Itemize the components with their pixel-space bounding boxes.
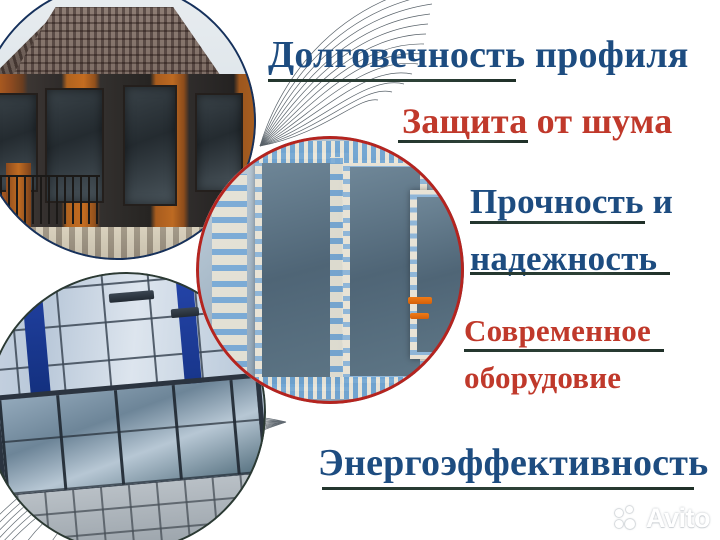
veka-orange-tie	[410, 313, 429, 319]
slogan-strength-underline	[470, 221, 645, 224]
house-window	[123, 85, 177, 206]
slogan-durability-underline	[268, 79, 516, 82]
slogan-modern: Современное	[464, 315, 651, 346]
veka-protective-film	[330, 157, 343, 377]
veka-protective-film	[212, 174, 247, 372]
slogan-reliability: надежность	[470, 241, 657, 276]
veka-windows-image	[196, 136, 464, 404]
house-railing	[0, 175, 100, 224]
slogan-strength: Прочность и	[470, 184, 673, 219]
slogan-durability: Долговечность профиля	[268, 36, 689, 74]
banner-canvas: Долговечность профиля Защита от шума Про…	[0, 0, 720, 540]
slogan-energy-underline	[322, 487, 694, 490]
photo-veka-windows	[196, 136, 464, 404]
veka-window-unit	[410, 190, 464, 359]
slogan-noise-underline	[398, 140, 528, 143]
avito-wordmark: Avito	[646, 503, 710, 534]
slogan-modern-underline	[464, 349, 664, 352]
avito-dots-icon	[615, 506, 641, 532]
slogan-reliability-underline	[470, 272, 670, 275]
avito-watermark: Avito	[615, 503, 710, 534]
slogan-energy: Энергоэффективность	[318, 444, 708, 482]
veka-film-strip	[250, 377, 416, 398]
veka-orange-tie	[408, 297, 432, 304]
slogan-equipment: оборудовие	[464, 362, 621, 393]
slogan-noise: Защита от шума	[402, 103, 672, 139]
